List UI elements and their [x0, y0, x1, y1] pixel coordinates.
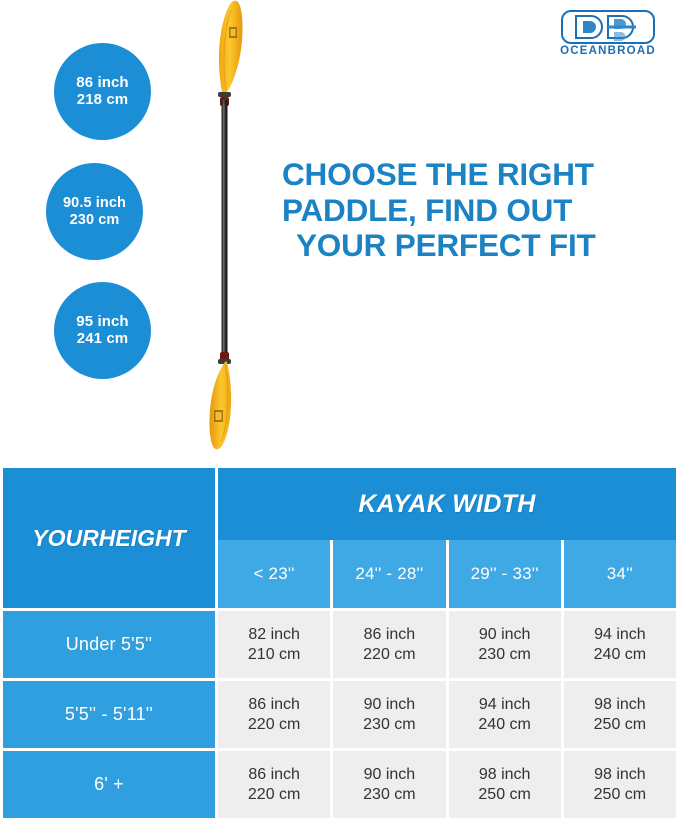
cell-r2c1-cm: 220 cm — [248, 715, 300, 735]
size-badge-2: 90.5 inch 230 cm — [46, 163, 143, 260]
cell-r3c1-cm: 220 cm — [248, 785, 300, 805]
table-group-header: KAYAK WIDTH — [215, 468, 676, 540]
kayak-paddle-illustration — [196, 0, 276, 450]
cell-r2c4-inch: 98 inch — [594, 695, 646, 715]
paddle-sizing-table: YOUR HEIGHT KAYAK WIDTH < 23'' 24'' - 28… — [3, 468, 676, 819]
table-header-row: YOUR HEIGHT KAYAK WIDTH < 23'' 24'' - 28… — [3, 468, 676, 608]
table-row: 5'5'' - 5'11'' 86 inch 220 cm 90 inch 23… — [3, 678, 676, 748]
size-badge-3: 95 inch 241 cm — [54, 282, 151, 379]
cell-r1c4-inch: 94 inch — [594, 625, 646, 645]
table-corner-header: YOUR HEIGHT — [3, 468, 215, 608]
table-column-headers: < 23'' 24'' - 28'' 29'' - 33'' 34'' — [215, 540, 676, 608]
cell-r3c2-cm: 230 cm — [363, 785, 415, 805]
size-badge-2-cm: 230 cm — [70, 212, 120, 228]
cell-r3c4-inch: 98 inch — [594, 765, 646, 785]
column-header-1: < 23'' — [215, 540, 330, 608]
paddle-blade-top — [219, 1, 243, 93]
cell-r1c4: 94 inch 240 cm — [561, 608, 676, 678]
paddle-blade-bottom — [210, 361, 232, 449]
cell-r3c3: 98 inch 250 cm — [446, 748, 561, 818]
cell-r3c2-inch: 90 inch — [364, 765, 416, 785]
column-header-3: 29'' - 33'' — [446, 540, 561, 608]
page-title-line-3: YOUR PERFECT FIT — [282, 228, 674, 264]
cell-r2c2: 90 inch 230 cm — [330, 678, 445, 748]
cell-r1c1-inch: 82 inch — [248, 625, 300, 645]
row-3-cells: 86 inch 220 cm 90 inch 230 cm 98 inch 25… — [215, 748, 676, 818]
cell-r2c4: 98 inch 250 cm — [561, 678, 676, 748]
page-title: CHOOSE THE RIGHT PADDLE, FIND OUT YOUR P… — [282, 157, 674, 264]
size-badge-3-inch: 95 inch — [76, 314, 128, 331]
cell-r1c3: 90 inch 230 cm — [446, 608, 561, 678]
size-badge-1-cm: 218 cm — [77, 92, 128, 109]
cell-r2c2-cm: 230 cm — [363, 715, 415, 735]
table-row: Under 5'5'' 82 inch 210 cm 86 inch 220 c… — [3, 608, 676, 678]
cell-r1c1-cm: 210 cm — [248, 645, 300, 665]
table-row: 6' + 86 inch 220 cm 90 inch 230 cm 98 in… — [3, 748, 676, 818]
oceanbroad-logo: OCEANBROAD — [556, 9, 660, 57]
cell-r1c3-inch: 90 inch — [479, 625, 531, 645]
cell-r1c2: 86 inch 220 cm — [330, 608, 445, 678]
cell-r3c2: 90 inch 230 cm — [330, 748, 445, 818]
cell-r2c1-inch: 86 inch — [248, 695, 300, 715]
page-title-line-1: CHOOSE THE RIGHT — [282, 157, 674, 193]
corner-header-line-1: YOUR — [32, 525, 98, 551]
row-label-3: 6' + — [3, 748, 215, 818]
table-header-right: KAYAK WIDTH < 23'' 24'' - 28'' 29'' - 33… — [215, 468, 676, 608]
cell-r3c4-cm: 250 cm — [594, 785, 646, 805]
column-header-2: 24'' - 28'' — [330, 540, 445, 608]
svg-text:OCEANBROAD: OCEANBROAD — [560, 45, 656, 57]
cell-r2c2-inch: 90 inch — [364, 695, 416, 715]
cell-r1c2-cm: 220 cm — [363, 645, 415, 665]
size-badge-2-inch: 90.5 inch — [63, 195, 126, 211]
cell-r2c3: 94 inch 240 cm — [446, 678, 561, 748]
row-2-cells: 86 inch 220 cm 90 inch 230 cm 94 inch 24… — [215, 678, 676, 748]
cell-r2c3-cm: 240 cm — [478, 715, 530, 735]
corner-header-line-2: HEIGHT — [99, 525, 186, 551]
cell-r1c1: 82 inch 210 cm — [215, 608, 330, 678]
cell-r3c3-inch: 98 inch — [479, 765, 531, 785]
row-label-2: 5'5'' - 5'11'' — [3, 678, 215, 748]
row-1-cells: 82 inch 210 cm 86 inch 220 cm 90 inch 23… — [215, 608, 676, 678]
cell-r3c1: 86 inch 220 cm — [215, 748, 330, 818]
cell-r2c1: 86 inch 220 cm — [215, 678, 330, 748]
cell-r2c4-cm: 250 cm — [594, 715, 646, 735]
size-badge-1: 86 inch 218 cm — [54, 43, 151, 140]
page-title-line-2: PADDLE, FIND OUT — [282, 193, 674, 229]
cell-r1c3-cm: 230 cm — [478, 645, 530, 665]
cell-r2c3-inch: 94 inch — [479, 695, 531, 715]
cell-r3c3-cm: 250 cm — [478, 785, 530, 805]
size-badge-1-inch: 86 inch — [76, 75, 128, 92]
column-header-4: 34'' — [561, 540, 676, 608]
cell-r1c4-cm: 240 cm — [594, 645, 646, 665]
size-badge-3-cm: 241 cm — [77, 331, 128, 348]
cell-r3c1-inch: 86 inch — [248, 765, 300, 785]
cell-r1c2-inch: 86 inch — [364, 625, 416, 645]
cell-r3c4: 98 inch 250 cm — [561, 748, 676, 818]
row-label-1: Under 5'5'' — [3, 608, 215, 678]
